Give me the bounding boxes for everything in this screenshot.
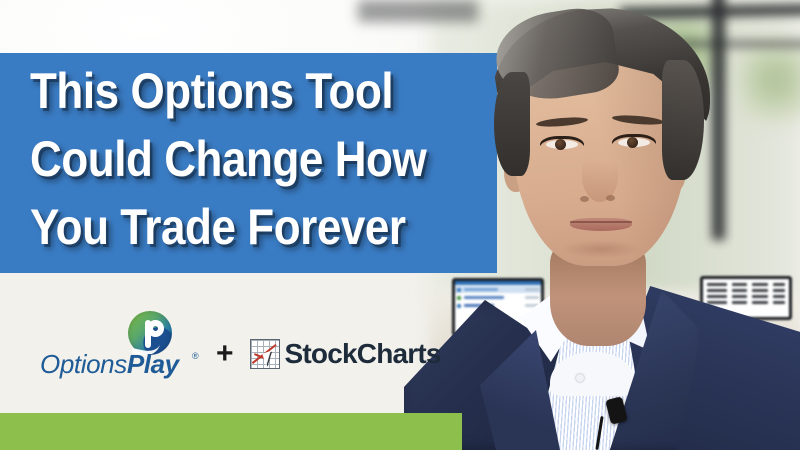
eye-left [540,136,584,151]
optionsplay-word-part-two: Play [127,349,179,379]
optionsplay-wordmark: OptionsPlay [40,349,179,380]
headline-text: This Options Tool Could Change How You T… [30,57,435,261]
optionsplay-logo: OptionsPlay ® [40,311,200,377]
eye-right [612,134,656,149]
logo-strip: OptionsPlay ® + StockCharts [0,273,460,413]
presenter-portrait [400,0,800,450]
mouth [570,218,632,231]
optionsplay-word-part-one: Options [40,349,127,379]
hair-side-left [494,72,530,176]
plus-connector: + [216,337,234,371]
nostril [580,196,589,202]
brand-lockup: OptionsPlay ® + StockCharts [40,311,441,377]
shirt-button [576,374,584,382]
video-thumbnail: This Options Tool Could Change How You T… [0,0,800,450]
nose [582,150,618,202]
stockcharts-logo: StockCharts [250,338,441,370]
nostril [606,195,615,201]
stockcharts-grid-cursor-icon [250,339,280,369]
lip-line [570,221,632,223]
bottom-accent-bar [0,413,462,450]
chin-shadow [560,240,642,258]
hair-side-right [662,60,704,180]
registered-trademark-symbol: ® [192,351,199,361]
stockcharts-wordmark: StockCharts [285,338,441,370]
eyelid [540,136,584,151]
eyelid [612,134,656,149]
